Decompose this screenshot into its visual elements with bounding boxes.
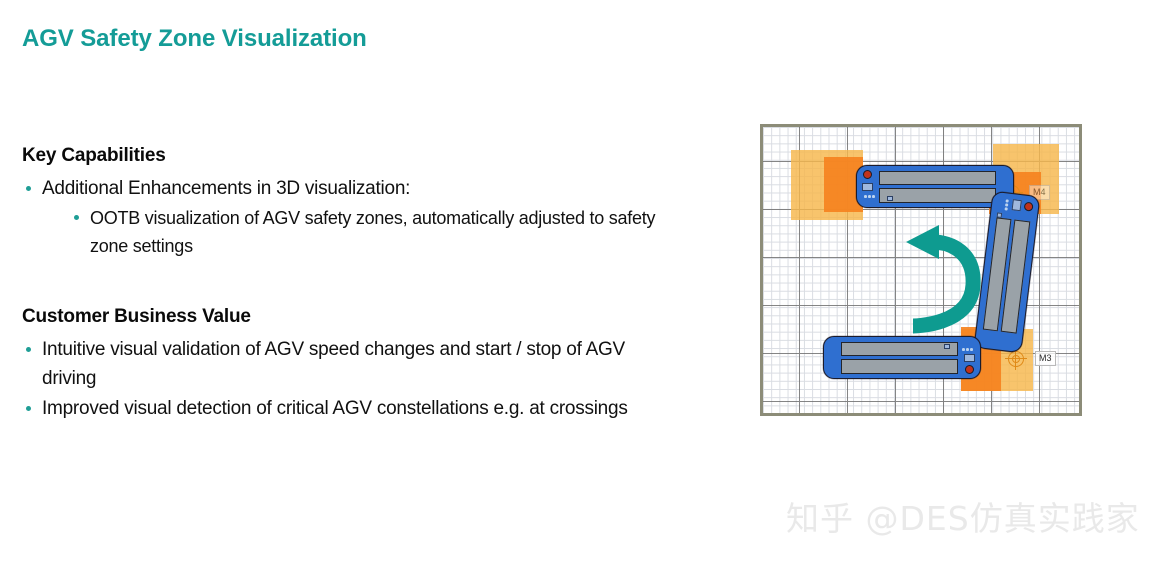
content-column: Key Capabilities Additional Enhancements… <box>22 145 662 431</box>
slide-root: AGV Safety Zone Visualization Key Capabi… <box>0 0 1167 563</box>
agv-led-icon <box>970 348 973 351</box>
agv-sensor <box>997 212 1003 218</box>
agv-vehicle-bottom[interactable] <box>823 336 981 379</box>
agv-sensor <box>944 344 950 349</box>
agv-status-indicator <box>965 365 974 374</box>
station-label-m3: M3 <box>1035 351 1056 366</box>
bullet-text: Additional Enhancements in 3D visualizat… <box>42 178 410 199</box>
agv-led-icon <box>1005 203 1008 206</box>
sub-bullet-list: OOTB visualization of AGV safety zones, … <box>70 204 662 260</box>
list-item: Intuitive visual validation of AGV speed… <box>22 335 662 393</box>
bullet-dot-icon <box>26 347 31 352</box>
sub-bullet-text: OOTB visualization of AGV safety zones, … <box>90 208 655 256</box>
agv-status-indicator <box>1024 202 1034 212</box>
list-item: Improved visual detection of critical AG… <box>22 394 662 423</box>
agv-deck <box>879 171 996 185</box>
agv-deck <box>841 342 958 356</box>
simulation-viewport[interactable]: M4 M3 <box>760 124 1082 416</box>
section-heading: Key Capabilities <box>22 145 662 167</box>
agv-panel <box>862 183 873 191</box>
bullet-text: Improved visual detection of critical AG… <box>42 398 628 419</box>
list-item: OOTB visualization of AGV safety zones, … <box>70 204 662 260</box>
section-key-capabilities: Key Capabilities Additional Enhancements… <box>22 145 662 260</box>
agv-status-indicator <box>863 170 872 179</box>
bullet-list: Additional Enhancements in 3D visualizat… <box>22 174 662 260</box>
agv-deck <box>841 359 958 374</box>
rotation-direction-arrow-icon <box>893 225 1003 340</box>
station-marker-m3[interactable] <box>1008 351 1024 367</box>
section-spacer <box>22 268 662 306</box>
agv-led-icon <box>962 348 965 351</box>
agv-vehicle-top[interactable] <box>856 165 1014 208</box>
agv-led-icon <box>864 195 867 198</box>
bullet-text: Intuitive visual validation of AGV speed… <box>42 339 625 389</box>
agv-sensor <box>887 196 893 201</box>
page-title: AGV Safety Zone Visualization <box>22 25 367 53</box>
agv-panel <box>964 354 975 362</box>
list-item: Additional Enhancements in 3D visualizat… <box>22 174 662 260</box>
section-heading: Customer Business Value <box>22 306 662 328</box>
simulation-canvas[interactable]: M4 M3 <box>763 127 1079 413</box>
agv-deck <box>879 188 996 203</box>
bullet-dot-icon <box>74 215 79 220</box>
agv-led-icon <box>868 195 871 198</box>
bullet-list: Intuitive visual validation of AGV speed… <box>22 335 662 423</box>
bullet-dot-icon <box>26 406 31 411</box>
agv-led-icon <box>966 348 969 351</box>
watermark-text: 知乎 @DES仿真实践家 <box>786 492 1140 540</box>
agv-led-icon <box>872 195 875 198</box>
agv-panel <box>1012 199 1022 211</box>
section-customer-business-value: Customer Business Value Intuitive visual… <box>22 306 662 423</box>
agv-led-icon <box>1005 207 1008 210</box>
bullet-dot-icon <box>26 186 31 191</box>
agv-led-icon <box>1006 199 1009 202</box>
